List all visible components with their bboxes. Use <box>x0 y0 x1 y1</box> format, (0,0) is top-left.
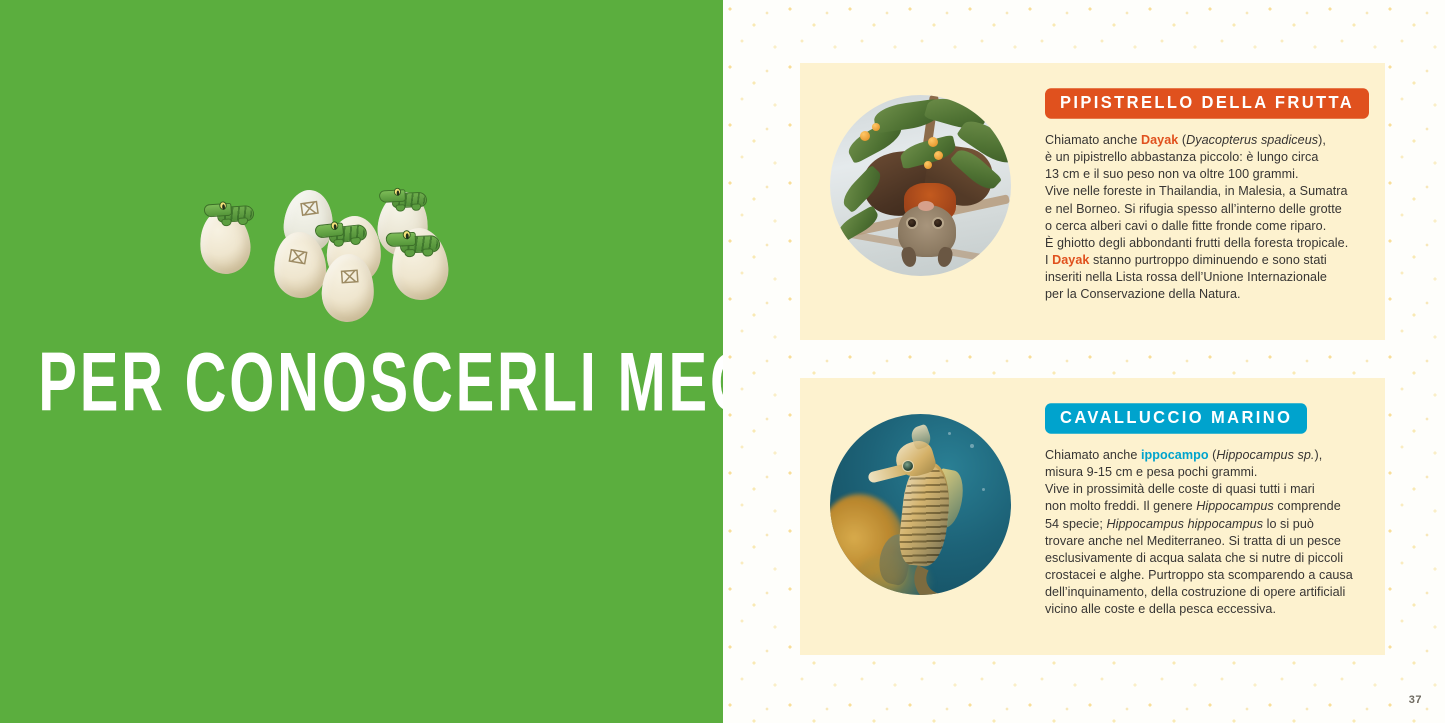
hatching-crocodile-eggs-illustration: ⌧ ⌧ ⌧ <box>196 176 452 336</box>
line: o cerca alberi cavi o dalle fitte fronde… <box>1045 219 1326 233</box>
line: Vive nelle foreste in Thailandia, in Mal… <box>1045 184 1348 198</box>
line: per la Conservazione della Natura. <box>1045 287 1241 301</box>
fruit-bat-photo <box>830 95 1011 276</box>
line: Chiamato anche Dayak (Dyacopterus spadic… <box>1045 133 1326 147</box>
info-card-fruit-bat: PIPISTRELLO DELLA FRUTTA Chiamato anche … <box>800 63 1385 340</box>
left-page: ⌧ ⌧ ⌧ <box>0 0 723 723</box>
line: vicino alle coste e della pesca eccessiv… <box>1045 602 1276 616</box>
line: È ghiotto degli abbondanti frutti della … <box>1045 236 1348 250</box>
line: non molto freddi. Il genere Hippocampus … <box>1045 499 1341 513</box>
line: 13 cm e il suo peso non va oltre 100 gra… <box>1045 167 1299 181</box>
book-spread: ⌧ ⌧ ⌧ <box>0 0 1445 723</box>
line: e nel Borneo. Si rifugia spesso all’inte… <box>1045 202 1342 216</box>
seahorse-description: Chiamato anche ippocampo (Hippocampus sp… <box>1045 447 1369 618</box>
baby-crocodile <box>379 185 430 214</box>
line: è un pipistrello abbastanza piccolo: è l… <box>1045 150 1318 164</box>
info-card-seahorse: CAVALLUCCIO MARINO Chiamato anche ippoca… <box>800 378 1385 655</box>
line: trovare anche nel Mediterraneo. Si tratt… <box>1045 534 1341 548</box>
baby-crocodile <box>385 227 442 259</box>
line: inseriti nella Lista rossa dell’Unione I… <box>1045 270 1327 284</box>
page-number: 37 <box>1409 694 1422 706</box>
right-page: PIPISTRELLO DELLA FRUTTA Chiamato anche … <box>723 0 1445 723</box>
line: I Dayak stanno purtroppo diminuendo e so… <box>1045 253 1327 267</box>
seahorse-card-body: CAVALLUCCIO MARINO Chiamato anche ippoca… <box>1045 404 1369 618</box>
badge-fruit-bat: PIPISTRELLO DELLA FRUTTA <box>1045 88 1369 119</box>
page-title: PER CONOSCERLI MEGLIO... <box>38 342 723 425</box>
line: Chiamato anche ippocampo (Hippocampus sp… <box>1045 448 1322 462</box>
line: crostacei e alghe. Purtroppo sta scompar… <box>1045 568 1353 582</box>
fruit-bat-description: Chiamato anche Dayak (Dyacopterus spadic… <box>1045 132 1369 303</box>
badge-seahorse: CAVALLUCCIO MARINO <box>1045 403 1307 434</box>
eggshell-crack-icon: ⌧ <box>299 199 319 221</box>
page-title-block: PER CONOSCERLI MEGLIO... <box>0 352 723 415</box>
eggshell-crack-icon: ⌧ <box>286 247 307 270</box>
baby-crocodile <box>203 197 256 228</box>
line: esclusivamente di acqua salata che si nu… <box>1045 551 1343 565</box>
eggshell-crack-icon: ⌧ <box>339 267 358 288</box>
fruit-bat-card-body: PIPISTRELLO DELLA FRUTTA Chiamato anche … <box>1045 89 1369 303</box>
line: 54 specie; Hippocampus hippocampus lo si… <box>1045 517 1314 531</box>
seahorse-photo <box>830 414 1011 595</box>
line: misura 9-15 cm e pesa pochi grammi. <box>1045 465 1257 479</box>
line: dell’inquinamento, della costruzione di … <box>1045 585 1345 599</box>
line: Vive in prossimità delle coste di quasi … <box>1045 482 1315 496</box>
baby-crocodile <box>314 216 370 250</box>
